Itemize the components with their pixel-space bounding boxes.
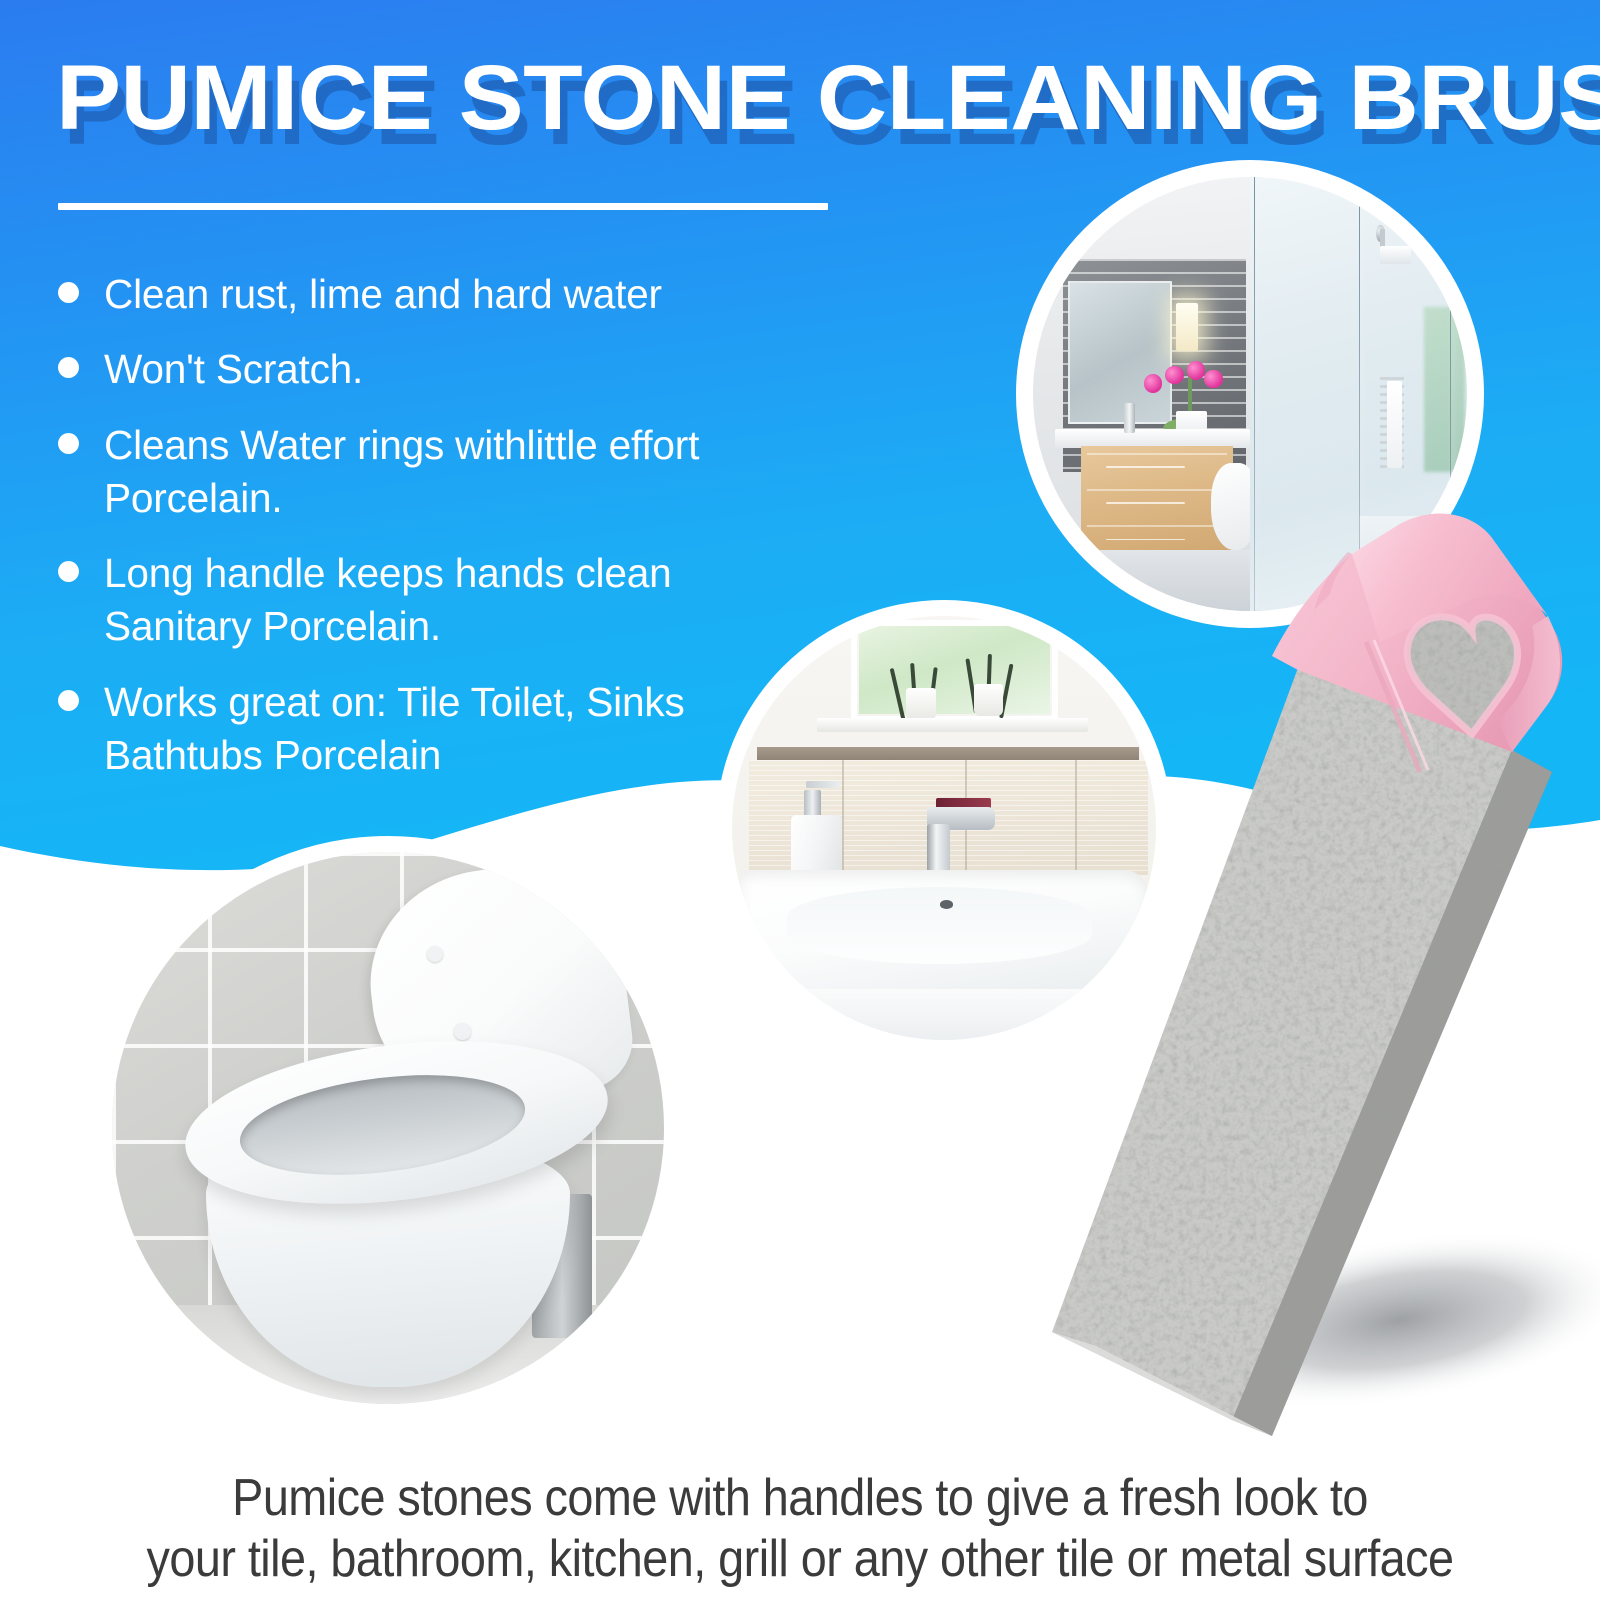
bullet-dot-icon <box>58 433 79 454</box>
bullet-dot-icon <box>58 690 79 711</box>
title-divider-rule <box>58 203 828 210</box>
list-item: Cleans Water rings withlittle effort Por… <box>58 419 798 526</box>
bottom-caption: Pumice stones come with handles to give … <box>80 1468 1520 1591</box>
feature-text: Won't Scratch. <box>104 343 791 396</box>
list-item: Works great on: Tile Toilet, Sinks Batht… <box>58 676 798 783</box>
feature-list: Clean rust, lime and hard water Won't Sc… <box>58 268 798 804</box>
feature-text: Works great on: Tile Toilet, Sinks Batht… <box>104 676 791 783</box>
photo-toilet-bowl <box>96 836 680 1420</box>
feature-text: Cleans Water rings withlittle effort Por… <box>104 419 791 526</box>
bullet-dot-icon <box>58 282 79 303</box>
bullet-dot-icon <box>58 561 79 582</box>
list-item: Clean rust, lime and hard water <box>58 268 798 321</box>
bullet-dot-icon <box>58 357 79 378</box>
caption-line-2: your tile, bathroom, kitchen, grill or a… <box>80 1529 1520 1590</box>
page-title: PUMICE STONE CLEANING BRUSH <box>56 52 1561 144</box>
list-item: Long handle keeps hands clean Sanitary P… <box>58 547 798 654</box>
caption-line-1: Pumice stones come with handles to give … <box>80 1468 1520 1529</box>
feature-text: Clean rust, lime and hard water <box>104 268 791 321</box>
product-pumice-stone-brush <box>900 420 1600 1450</box>
feature-text: Long handle keeps hands clean Sanitary P… <box>104 547 791 654</box>
product-infographic-poster: PUMICE STONE CLEANING BRUSH Clean rust, … <box>0 0 1600 1600</box>
list-item: Won't Scratch. <box>58 343 798 396</box>
